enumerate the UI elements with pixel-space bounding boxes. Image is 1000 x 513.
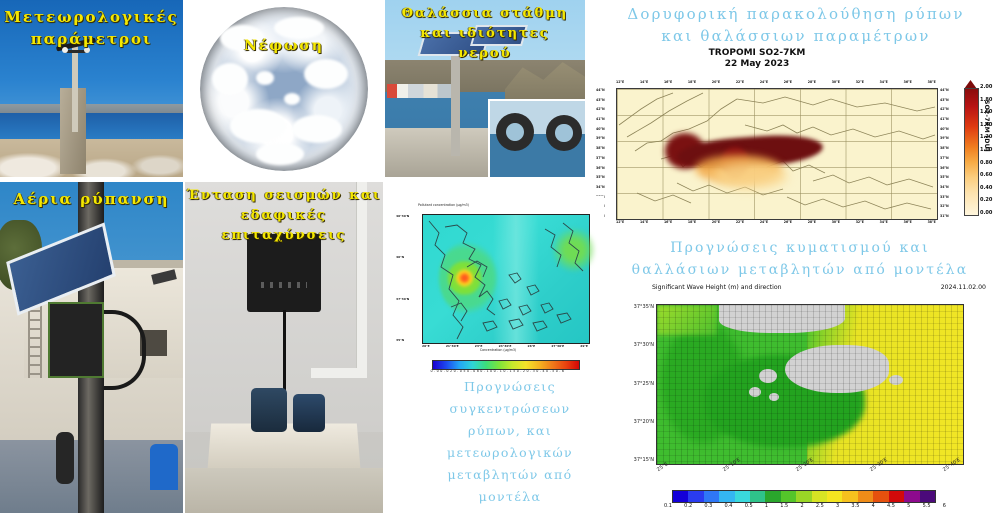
axis-tick: 39°N [940, 136, 949, 140]
colorbar-swatch [873, 491, 888, 502]
axis-tick: 34°N [940, 185, 949, 189]
axis-tick: 24°E [760, 220, 768, 224]
colorbar-tick: 0.3 [526, 369, 536, 373]
colorbar-swatch [673, 491, 688, 502]
tyre-right [546, 115, 582, 151]
axis-tick: 30°E [832, 220, 840, 224]
chart-subtitle-tropomi: 22 May 2023 [592, 59, 922, 70]
x-axis-ticks-bottom: 12°E14°E16°E18°E20°E22°E24°E26°E28°E30°E… [616, 220, 936, 224]
axis-tick: 34°N [596, 185, 605, 189]
axis-tick: 32°N [940, 204, 949, 208]
chart-title-tropomi: TROPOMI SO2-7KM [592, 48, 922, 59]
colorbar-swatch [842, 491, 857, 502]
colorbar-label-concentration: Concentration (µg/m3) [392, 348, 604, 352]
colorbar-swatch [704, 491, 719, 502]
axis-tick: 38°N [940, 146, 949, 150]
colorbar-tick: 0.2 [684, 503, 692, 509]
colorbar-tick: 5 [907, 503, 910, 509]
chart-title-wave: Significant Wave Height (m) and directio… [652, 284, 782, 291]
panel-sea-level-water-properties: Θαλάσσια στάθμη και ιδιότητες νερού [385, 0, 585, 177]
harbour-boats [387, 84, 457, 98]
axis-tick: 38°E [928, 80, 936, 84]
axis-tick: 38°N [596, 146, 605, 150]
colorbar-swatch [719, 491, 734, 502]
wave-plot-area [656, 304, 964, 465]
axis-tick: 28°E [808, 220, 816, 224]
colorbar-label-so2: SO2-7KM [DU] [983, 100, 990, 200]
axis-tick: 40°N [940, 127, 949, 131]
floor-surface [185, 468, 383, 513]
axis-tick: 37°30'N [396, 297, 409, 301]
axis-tick: 36°E [904, 220, 912, 224]
axis-tick: 36°N [940, 166, 949, 170]
axis-tick: 38°E [928, 220, 936, 224]
colorbar-tick: 0.5 [745, 503, 753, 509]
wall-conduit [356, 182, 367, 378]
caption-conc-forecast-line2: συγκεντρώσεων [410, 400, 610, 418]
axis-tick: 42°N [596, 107, 605, 111]
y-axis-ticks-wave: 37°35'N37°30'N37°25'N37°20'N37°15'N [610, 304, 654, 463]
axis-tick: 26°E [784, 220, 792, 224]
axis-tick: 22°E [736, 80, 744, 84]
colorbar-tick: 4.5 [887, 503, 895, 509]
coastline-overlay [423, 215, 589, 343]
colorbar-tick: 0.15 [503, 369, 516, 373]
seismograph-unit [247, 234, 321, 312]
colorbar-tick: 0.4 [725, 503, 733, 509]
analyser-enclosure [48, 302, 104, 378]
colorbar-tick: 2.5 [816, 503, 824, 509]
axis-tick: 36°N [596, 166, 605, 170]
axis-tick: 20°E [712, 220, 720, 224]
caption-conc-forecast-line4: μετεωρολογικών [410, 444, 610, 462]
station-mast [72, 46, 78, 132]
heading-wave-forecast-line1: Προγνώσεις κυματισμού και [600, 238, 1000, 258]
colorbar-tick: 0.0 [431, 369, 441, 373]
colorbar-tick: 0.3 [704, 503, 712, 509]
axis-tick: 39°N [596, 136, 605, 140]
tyre-inset-photo [488, 99, 585, 177]
caption-conc-forecast-line5: μεταβλητών από [410, 466, 610, 484]
accelerometer-a [251, 388, 287, 432]
accelerometer-b [293, 394, 325, 432]
axis-tick: 42°N [940, 107, 949, 111]
colorbar-swatch [904, 491, 919, 502]
panel-caption-meteo-line1: Μετεωρολογικές [0, 8, 183, 27]
axis-tick: 36°E [904, 80, 912, 84]
x-axis-ticks-wave: 25°E25°10'E25°20'E25°30'E25°40'E [656, 468, 962, 474]
colorbar-swatch [858, 491, 873, 502]
axis-tick: 44°N [940, 88, 949, 92]
panel-air-pollution: Αέρια ρύπανση [0, 182, 183, 513]
colorbar-tick: 0.00 [980, 210, 992, 216]
axis-tick: 35°N [940, 175, 949, 179]
heading-satellite-line1: Δορυφορική παρακολούθηση ρύπων [592, 4, 1000, 26]
colorbar-swatch [827, 491, 842, 502]
colorbar-tick: 1.5 [780, 503, 788, 509]
axis-tick: 44°N [596, 88, 605, 92]
caption-conc-forecast-line1: Προγνώσεις [410, 378, 610, 396]
panel-cloudiness: Νέφωση [185, 0, 383, 177]
axis-tick: 37°25'N [634, 381, 654, 387]
colorbar-tick: 1 [765, 503, 768, 509]
axis-tick: 20°E [712, 80, 720, 84]
axis-tick: 33°N [940, 195, 949, 199]
colorbar-tick: 0.4 [536, 369, 546, 373]
axis-tick: 37°15'N [634, 457, 654, 463]
axis-tick: 14°E [640, 220, 648, 224]
axis-tick: 37°20'N [634, 419, 654, 425]
colorbar-tick: 5.5 [923, 503, 931, 509]
axis-tick: 22°E [736, 220, 744, 224]
colorbar-swatch [889, 491, 904, 502]
concentration-plot-area [422, 214, 590, 344]
axis-tick: 18°E [688, 220, 696, 224]
colorbar-tick: 3 [836, 503, 839, 509]
colorbar-wave [672, 490, 936, 503]
caption-conc-forecast-line6: μοντέλα [410, 488, 610, 506]
wave-direction-quivers [657, 305, 963, 464]
axis-tick: 14°E [640, 80, 648, 84]
axis-tick: 43°N [596, 98, 605, 102]
panel-meteorological-parameters: Μετεωρολογικές παράμετροι [0, 0, 183, 177]
y-axis-ticks: 40°30'N40°N37°30'N35°N [396, 214, 409, 342]
technician [150, 444, 178, 490]
so2-map-plot-area [616, 88, 938, 220]
axis-tick: 40°30'N [396, 214, 409, 218]
axis-tick: 43°N [940, 98, 949, 102]
colorbar-tick: 0.1 [664, 503, 672, 509]
colorbar-tick: 0.10 [480, 369, 493, 373]
y-axis-ticks-right: 44°N43°N42°N41°N40°N39°N38°N37°N36°N35°N… [940, 88, 949, 218]
colorbar-swatch [765, 491, 780, 502]
chart-tropomi-so2: TROPOMI SO2-7KM 22 May 2023 12°E14°E16°E… [592, 48, 1000, 236]
colorbar-tick: 0.08 [467, 369, 480, 373]
chart-title-concentration: Pollutant concentration (µg/m3) [418, 203, 578, 207]
anemometer-cup-right-icon [84, 47, 90, 53]
axis-tick: 12°E [616, 220, 624, 224]
axis-tick: 16°E [664, 80, 672, 84]
colorbar-swatch [796, 491, 811, 502]
colorbar-swatch [920, 491, 935, 502]
colorbar-tick: 0.6 [556, 369, 566, 373]
chart-date-wave: 2024.11.02.00 [941, 284, 986, 291]
x-axis-ticks-top: 12°E14°E16°E18°E20°E22°E24°E26°E28°E30°E… [616, 80, 936, 84]
axis-tick: 24°E [760, 80, 768, 84]
all-sky-camera-image [200, 7, 368, 171]
axis-tick: 35°N [396, 338, 409, 342]
colorbar-tick: 2 [800, 503, 803, 509]
axis-tick: 32°E [856, 220, 864, 224]
colorbar-swatch [812, 491, 827, 502]
colorbar-ticks-concentration: 0.00.020.050.080.100.10.150.20.30.40.50.… [392, 369, 604, 373]
axis-tick: 37°35'N [634, 304, 654, 310]
axis-tick: 16°E [664, 220, 672, 224]
axis-tick: 18°E [688, 80, 696, 84]
axis-tick: 28°E [808, 80, 816, 84]
axis-tick: 40°N [396, 255, 409, 259]
solar-panel-secondary-icon [470, 25, 528, 46]
gas-sensor-probe [56, 432, 74, 484]
so2-plume-fringe [713, 163, 787, 189]
colorbar-tick: 0.05 [454, 369, 467, 373]
caption-conc-forecast-line3: ρύπων, και [410, 422, 610, 440]
colorbar-tick: 2.00 [980, 84, 992, 90]
colorbar-swatch [735, 491, 750, 502]
axis-tick: 12°E [616, 80, 624, 84]
colorbar-so2 [964, 88, 979, 216]
axis-tick: 40°N [596, 127, 605, 131]
colorbar-tick: 3.5 [851, 503, 859, 509]
heading-satellite-line2: και θαλάσσιων παραμέτρων [592, 26, 1000, 48]
axis-tick: 37°30'N [634, 342, 654, 348]
colorbar-swatch [688, 491, 703, 502]
axis-tick: 31°N [940, 214, 949, 218]
panel-caption-sealevel-line1: Θαλάσσια στάθμη [385, 6, 585, 23]
colorbar-tick: 0.02 [440, 369, 453, 373]
axis-tick: 41°N [596, 117, 605, 121]
axis-tick: 37°N [940, 156, 949, 160]
colorbar-swatch [750, 491, 765, 502]
axis-tick: 41°N [940, 117, 949, 121]
axis-tick: 34°E [880, 220, 888, 224]
wall-conduit-bend [311, 368, 367, 378]
chart-pollutant-concentration: Pollutant concentration (µg/m3) [392, 196, 604, 376]
chart-significant-wave-height: Significant Wave Height (m) and directio… [604, 282, 1000, 513]
panel-seismic-intensity: Ένταση σεισμών και εδαφικές επιταχύνσεις [185, 182, 383, 513]
axis-tick: 37°N [596, 156, 605, 160]
colorbar-tick: 4 [872, 503, 875, 509]
poster-collage: Μετεωρολογικές παράμετροι Νέφωση Θαλάσσι… [0, 0, 1000, 513]
axis-tick: 35°N [596, 175, 605, 179]
colorbar-tick: 0.1 [494, 369, 504, 373]
colorbar-ticks-wave: 0.10.20.30.40.511.522.533.544.555.56 [664, 503, 946, 509]
axis-tick: 26°E [784, 80, 792, 84]
colorbar-swatch [781, 491, 796, 502]
anemometer-cup-left-icon [62, 47, 68, 53]
colorbar-tick: 6 [943, 503, 946, 509]
heading-wave-forecast-line2: θαλλάσιων μεταβλητών από μοντέλα [600, 260, 1000, 280]
axis-tick: 32°E [856, 80, 864, 84]
axis-tick: 30°E [832, 80, 840, 84]
tyre-left [496, 113, 534, 151]
colorbar-tick: 0.5 [546, 369, 556, 373]
axis-tick: 34°E [880, 80, 888, 84]
